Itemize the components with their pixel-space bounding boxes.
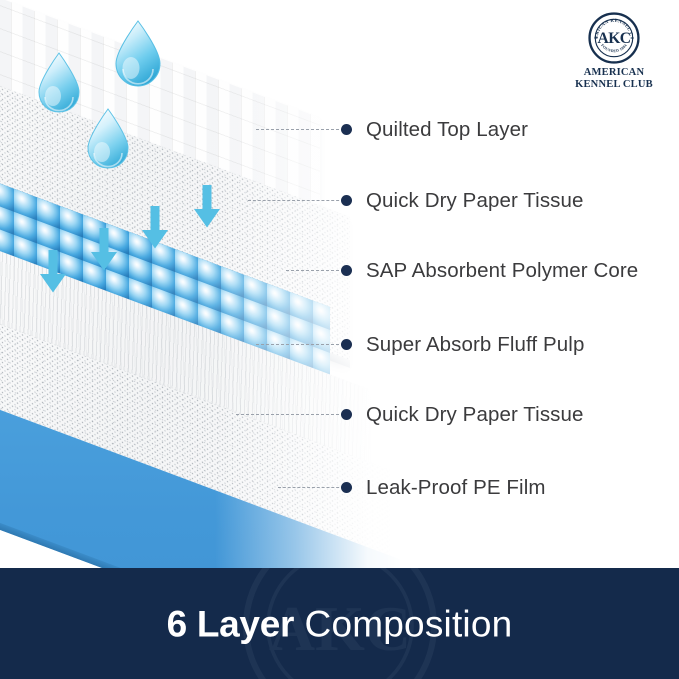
leader-line — [248, 200, 344, 201]
akc-seal-icon: AMERICAN KENNEL CLUB FOUNDED 1884 AKC — [588, 12, 640, 64]
callout-dot-leak-proof-pe-film — [341, 482, 352, 493]
leader-line — [256, 344, 344, 345]
callout-label-quick-dry-paper-tissue-top: Quick Dry Paper Tissue — [366, 191, 584, 212]
callout-dot-quick-dry-paper-tissue-bottom — [341, 409, 352, 420]
akc-wordmark-line-1: AMERICAN — [571, 67, 657, 79]
callout-dot-super-absorb-fluff-pulp — [341, 339, 352, 350]
banner-title: 6 Layer Composition — [0, 605, 679, 642]
callout-label-leak-proof-pe-film: Leak-Proof PE Film — [366, 478, 546, 499]
infographic-root: Quilted Top Layer Quick Dry Paper Tissue… — [0, 0, 679, 679]
callout-dot-quilted-top-layer — [341, 124, 352, 135]
callout-label-quilted-top-layer: Quilted Top Layer — [366, 120, 528, 141]
leader-line — [286, 270, 344, 271]
callout-label-sap-absorbent-polymer-core: SAP Absorbent Polymer Core — [366, 261, 638, 282]
akc-wordmark: AMERICAN KENNEL CLUB — [571, 67, 657, 92]
callout-label-quick-dry-paper-tissue-bottom: Quick Dry Paper Tissue — [366, 405, 584, 426]
callout-label-super-absorb-fluff-pulp: Super Absorb Fluff Pulp — [366, 335, 584, 356]
akc-logo: AMERICAN KENNEL CLUB FOUNDED 1884 AKC AM… — [571, 12, 657, 92]
svg-text:AKC: AKC — [597, 30, 630, 47]
callout-dot-sap-absorbent-polymer-core — [341, 265, 352, 276]
leader-line — [236, 414, 344, 415]
banner-title-strong: 6 Layer — [167, 603, 295, 644]
leader-line — [256, 129, 344, 130]
akc-wordmark-line-2: KENNEL CLUB — [571, 79, 657, 91]
leader-line — [278, 487, 344, 488]
banner-title-light: Composition — [294, 603, 512, 644]
callout-dot-quick-dry-paper-tissue-top — [341, 195, 352, 206]
bottom-banner: AKC 6 Layer Composition — [0, 568, 679, 679]
